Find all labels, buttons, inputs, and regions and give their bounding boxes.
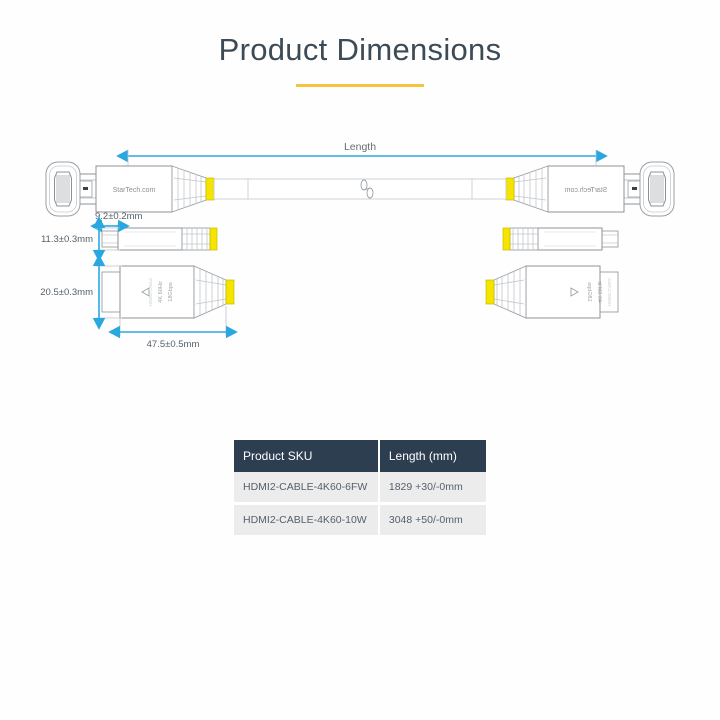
product-dimensions-page: Product Dimensions — [0, 0, 720, 720]
connector-right — [472, 166, 654, 212]
connector-spec-2-left: 18Gbps — [168, 282, 174, 302]
detail-view-front-left: 4K 60Hz 18Gbps HDMI2-CABLE — [102, 266, 234, 318]
connector-sku-mark-left: HDMI2-CABLE — [148, 278, 153, 306]
cable-band-right — [506, 178, 514, 200]
cell-sku: HDMI2-CABLE-4K60-10W — [234, 505, 380, 535]
detail-view-side-right — [503, 228, 618, 250]
cell-length: 3048 +50/-0mm — [380, 505, 486, 535]
detail-view-side-left — [102, 228, 217, 250]
page-title: Product Dimensions — [0, 30, 720, 70]
table-header-sku: Product SKU — [234, 440, 380, 472]
table-row: HDMI2-CABLE-4K60-6FW 1829 +30/-0mm — [234, 472, 486, 505]
dimension-label-width-front: 20.5±0.3mm — [40, 287, 93, 298]
table-row: HDMI2-CABLE-4K60-10W 3048 +50/-0mm — [234, 505, 486, 535]
cell-length: 1829 +30/-0mm — [380, 472, 486, 505]
dimension-label-thickness: 9.2±0.2mm — [95, 211, 143, 222]
brand-label-right: StarTech.com — [564, 187, 607, 194]
connector-sku-mark-right: HDMI2-CABLE — [607, 278, 612, 306]
connector-spec-2-right: 18Gbps — [586, 282, 592, 302]
dimension-label-connector-length: 47.5±0.5mm — [147, 339, 200, 350]
table-header-row: Product SKU Length (mm) — [234, 440, 486, 472]
connector-left: StarTech.com — [66, 166, 248, 212]
connector-spec-1-right: 4K 60Hz — [596, 281, 602, 303]
brand-label-left: StarTech.com — [113, 187, 156, 194]
title-block: Product Dimensions — [0, 30, 720, 87]
cell-sku: HDMI2-CABLE-4K60-6FW — [234, 472, 380, 505]
cable-assembly-main: StarTech.com — [66, 166, 654, 212]
table-header-length: Length (mm) — [380, 440, 486, 472]
dimension-diagram: Length — [0, 120, 720, 380]
hdmi-port-view-left — [46, 162, 80, 216]
title-underline-accent — [296, 84, 424, 87]
length-dimension-label: Length — [344, 141, 376, 153]
hdmi-port-view-right — [640, 162, 674, 216]
cable-band-left — [206, 178, 214, 200]
product-spec-table: Product SKU Length (mm) HDMI2-CABLE-4K60… — [234, 440, 486, 535]
connector-spec-1-left: 4K 60Hz — [158, 281, 164, 303]
dimension-label-height-side: 11.3±0.3mm — [41, 234, 93, 245]
